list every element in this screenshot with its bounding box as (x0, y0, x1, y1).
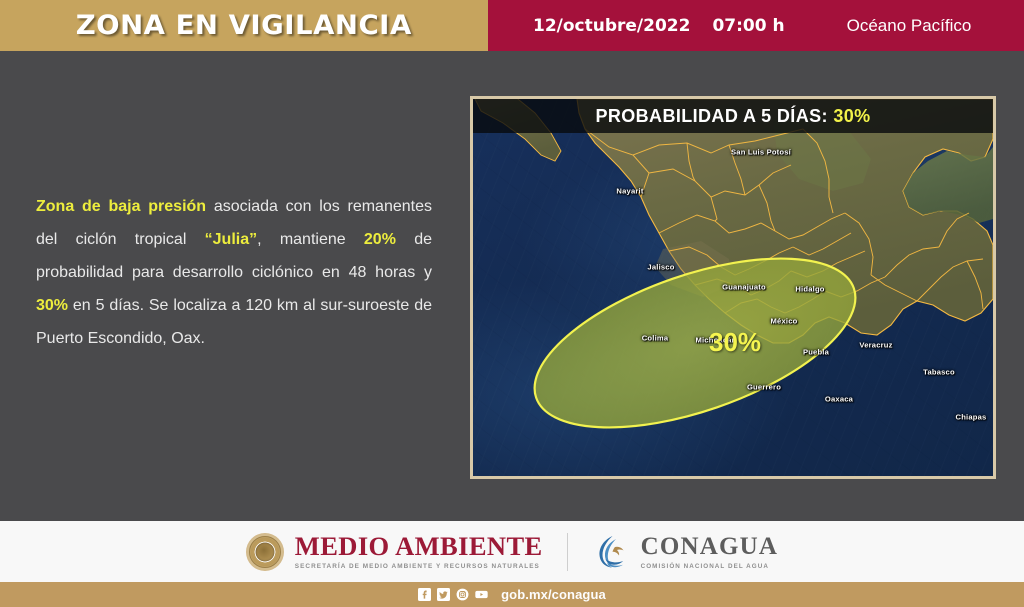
footer-social-bar: gob.mx/conagua (0, 582, 1024, 607)
website-url[interactable]: gob.mx/conagua (501, 587, 606, 602)
map-canvas: Nayarit San Luis Potosí Guanajuato Hidal… (473, 99, 993, 476)
footer-logo-bar: MEDIO AMBIENTE SECRETARÍA DE MEDIO AMBIE… (0, 521, 1024, 582)
semarnat-wordmark: MEDIO AMBIENTE SECRETARÍA DE MEDIO AMBIE… (295, 533, 543, 571)
advisory-graphic: ZONA EN VIGILANCIA 12/octubre/2022 07:00… (0, 0, 1024, 607)
ocean-basin-label: Océano Pacífico (847, 16, 972, 36)
header-title-panel: ZONA EN VIGILANCIA (0, 0, 488, 51)
header-info-panel: 12/octubre/2022 07:00 h Océano Pacífico (488, 0, 1024, 51)
state-label-hidalgo: Hidalgo (795, 285, 824, 294)
state-label-oaxaca: Oaxaca (825, 395, 853, 404)
probability-banner-text: PROBABILIDAD A 5 DÍAS: 30% (595, 106, 870, 127)
state-label-puebla: Puebla (803, 348, 829, 357)
conagua-water-eagle-icon (592, 532, 632, 572)
conagua-wordmark: CONAGUA COMISIÓN NACIONAL DEL AGUA (641, 534, 779, 570)
summary-highlight-5day-probability: 30% (36, 297, 68, 314)
state-label-san-luis-potosi: San Luis Potosí (731, 148, 791, 157)
advisory-time: 07:00 h (712, 16, 784, 36)
logo-divider (567, 533, 568, 571)
conagua-logo: CONAGUA COMISIÓN NACIONAL DEL AGUA (592, 532, 779, 572)
state-label-michoacan: Michoacán (695, 336, 736, 345)
semarnat-logo: MEDIO AMBIENTE SECRETARÍA DE MEDIO AMBIE… (246, 533, 543, 571)
state-label-guerrero: Guerrero (747, 383, 781, 392)
state-label-nayarit: Nayarit (616, 187, 643, 196)
page-title: ZONA EN VIGILANCIA (76, 10, 412, 41)
instagram-icon[interactable] (456, 588, 469, 601)
probability-banner: PROBABILIDAD A 5 DÍAS: 30% (473, 99, 993, 133)
state-label-guanajuato: Guanajuato (722, 283, 766, 292)
youtube-icon[interactable] (475, 588, 488, 601)
semarnat-title: MEDIO AMBIENTE (295, 533, 543, 561)
conagua-subtitle: COMISIÓN NACIONAL DEL AGUA (641, 563, 779, 570)
mexico-national-seal-icon (246, 533, 284, 571)
summary-text-4: en 5 días. Se localiza a 120 km al sur-s… (36, 297, 432, 347)
state-label-mexico: México (771, 317, 798, 326)
state-label-colima: Colima (642, 334, 669, 343)
state-label-chiapas: Chiapas (956, 413, 987, 422)
twitter-icon[interactable] (437, 588, 450, 601)
state-label-veracruz: Veracruz (859, 341, 892, 350)
summary-highlight-low-pressure: Zona de baja presión (36, 198, 206, 215)
forecast-map[interactable]: Nayarit San Luis Potosí Guanajuato Hidal… (470, 96, 996, 479)
advisory-summary-text: Zona de baja presión asociada con los re… (36, 190, 432, 355)
summary-highlight-48h-probability: 20% (364, 231, 396, 248)
facebook-icon[interactable] (418, 588, 431, 601)
advisory-date: 12/octubre/2022 (533, 16, 690, 36)
state-label-jalisco: Jalisco (647, 263, 674, 272)
probability-banner-label: PROBABILIDAD A 5 DÍAS: (595, 106, 827, 126)
summary-highlight-storm-name: “Julia” (205, 231, 257, 248)
summary-text-2: , mantiene (257, 231, 364, 248)
state-label-tabasco: Tabasco (923, 368, 955, 377)
probability-banner-value: 30% (833, 106, 870, 126)
conagua-title: CONAGUA (641, 534, 779, 560)
header-bar: ZONA EN VIGILANCIA 12/octubre/2022 07:00… (0, 0, 1024, 51)
semarnat-subtitle: SECRETARÍA DE MEDIO AMBIENTE Y RECURSOS … (295, 563, 543, 570)
